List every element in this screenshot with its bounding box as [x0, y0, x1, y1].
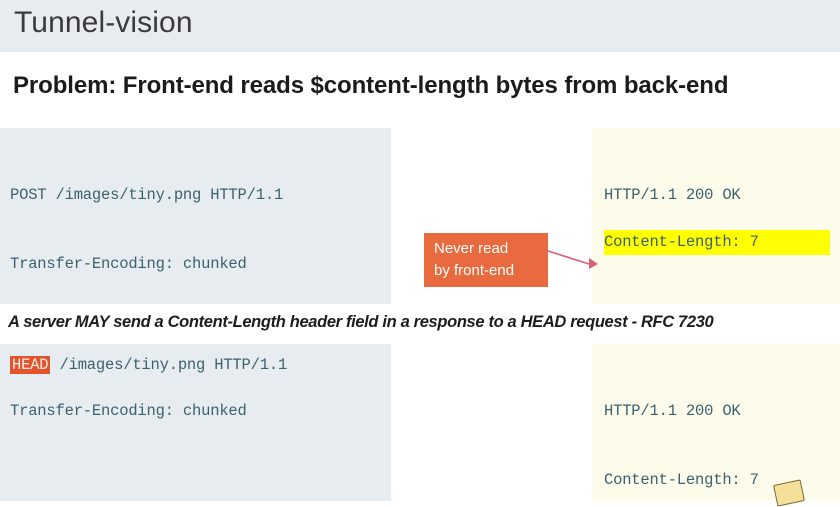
callout-line-1: Never read — [434, 238, 548, 260]
code-line: /images/tiny.png HTTP/1.1 — [50, 356, 287, 374]
callout-line-2: by front-end — [434, 260, 548, 282]
content-length-highlight: Content-Length: 7 — [604, 230, 830, 255]
code-blank-line — [10, 469, 381, 492]
code-line: Transfer-Encoding: chunked — [10, 400, 381, 423]
code-blank-line — [604, 301, 830, 304]
rfc-caption: A server MAY send a Content-Length heade… — [8, 313, 840, 332]
callout-arrow-icon — [545, 248, 600, 276]
page-title: Tunnel-vision — [14, 6, 193, 40]
request-panel-top: POST /images/tiny.png HTTP/1.1 Transfer-… — [0, 128, 391, 304]
problem-headline: Problem: Front-end reads $content-length… — [13, 72, 839, 100]
callout-never-read: Never read by front-end — [424, 233, 548, 287]
response-panel-bottom: HTTP/1.1 200 OK Content-Length: 7 HTTP/1… — [592, 344, 840, 501]
code-line: HTTP/1.1 200 OK — [604, 184, 830, 207]
response-panel-top: HTTP/1.1 200 OK Content-Length: 7 conten… — [592, 128, 840, 304]
code-line: Transfer-Encoding: chunked — [10, 253, 381, 276]
code-line: POST /images/tiny.png HTTP/1.1 — [10, 184, 381, 207]
request-panel-bottom: HEAD /images/tiny.png HTTP/1.1 Transfer-… — [0, 344, 391, 501]
head-method-highlight: HEAD — [10, 356, 50, 374]
sticky-note-icon — [773, 479, 805, 506]
code-line: HTTP/1.1 200 OK — [604, 400, 830, 423]
